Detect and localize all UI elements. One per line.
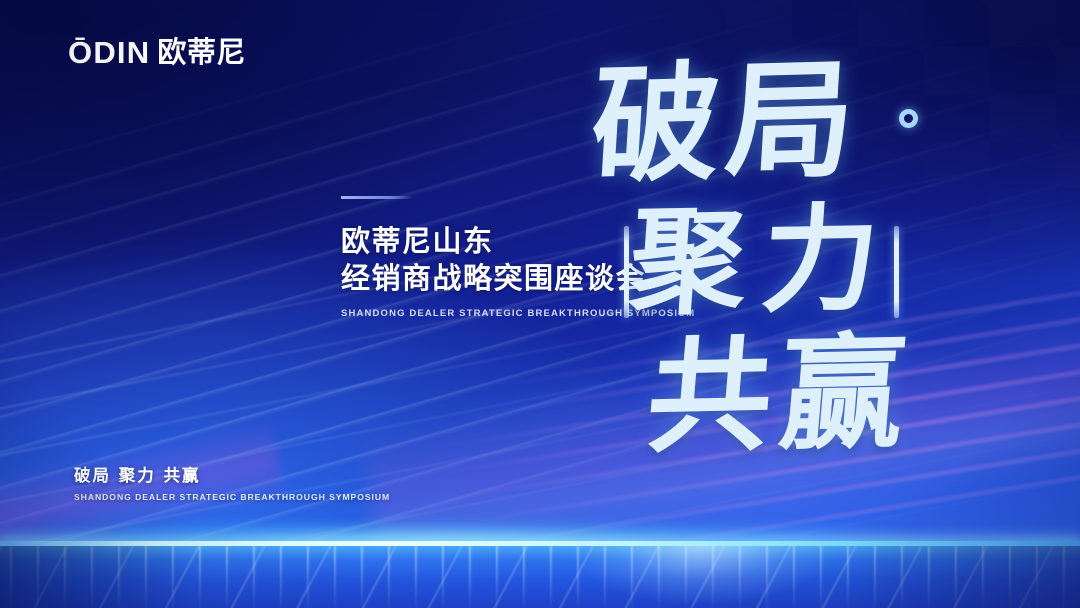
headline-line-3: 共赢 [643,331,918,461]
headline-bar-right [894,226,899,318]
circle-accent-icon [899,109,918,128]
brand-logo-mark: ŌDIN [68,37,150,68]
tagline-en: SHANDONG DEALER STRATEGIC BREAKTHROUGH S… [74,492,390,502]
brand-logo: ŌDIN 欧蒂尼 [68,37,246,68]
tagline-block: 破局 聚力 共赢 SHANDONG DEALER STRATEGIC BREAK… [74,466,390,502]
tagline-cn: 破局 聚力 共赢 [74,466,390,486]
title-divider-rule [341,196,413,199]
foreground-light-band [0,546,1080,608]
headline-bar-left [624,226,629,318]
ground-shadow-right [842,546,1080,608]
ground-shadow-left [0,546,194,608]
brand-logo-cn: 欧蒂尼 [157,38,246,67]
headline-calligraphy: 破局 聚力 共赢 [586,56,996,476]
ground-hotspot [562,546,843,608]
headline-line-1: 破局 [588,57,864,192]
poster-canvas: ŌDIN 欧蒂尼 欧蒂尼山东 经销商战略突围座谈会 SHANDONG DEALE… [0,0,1080,608]
headline-line-2: 聚力 [626,202,898,323]
